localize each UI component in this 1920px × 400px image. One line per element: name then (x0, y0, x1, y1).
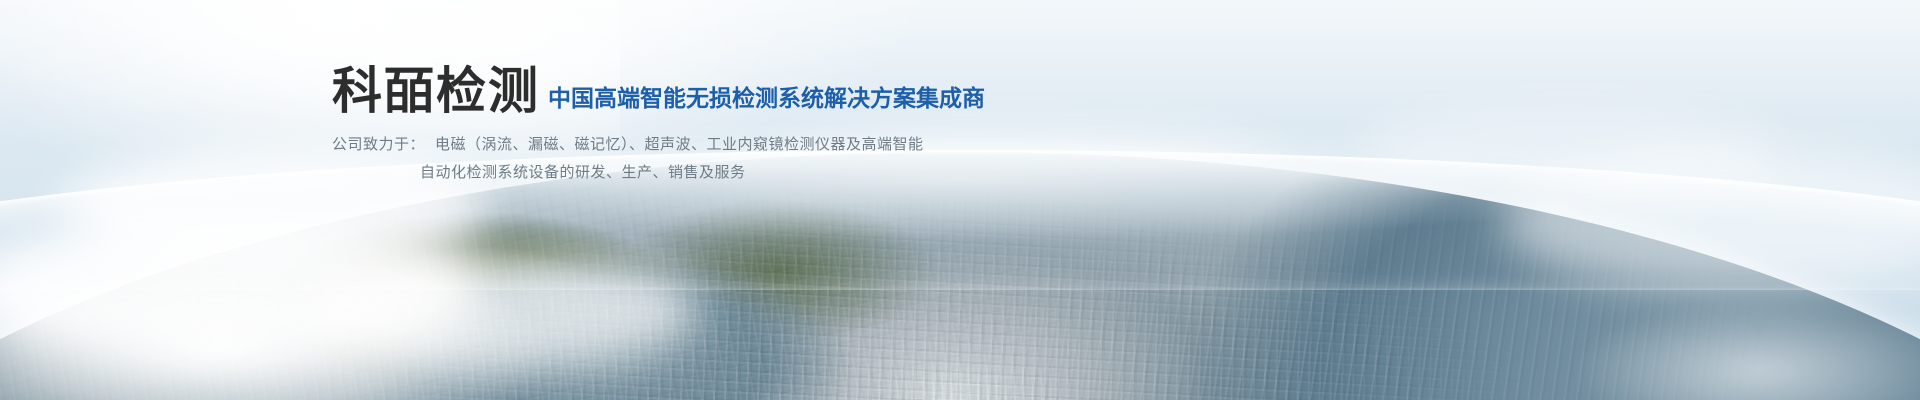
banner-text-overlay: 科皕检测 中国高端智能无损检测系统解决方案集成商 公司致力于： 电磁（涡流、漏磁… (0, 0, 1920, 400)
description-text-line-2: 自动化检测系统设备的研发、生产、销售及服务 (420, 158, 746, 186)
company-name: 科皕检测 (332, 64, 540, 118)
description-label: 公司致力于： (332, 130, 425, 158)
company-description: 公司致力于： 电磁（涡流、漏磁、磁记忆）、超声波、工业内窥镜检测仪器及高端智能 … (332, 130, 924, 186)
brand-title-row: 科皕检测 中国高端智能无损检测系统解决方案集成商 (332, 64, 985, 118)
company-tagline: 中国高端智能无损检测系统解决方案集成商 (548, 85, 985, 118)
description-line-2: 自动化检测系统设备的研发、生产、销售及服务 (332, 158, 924, 186)
description-text-line-1: 电磁（涡流、漏磁、磁记忆）、超声波、工业内窥镜检测仪器及高端智能 (435, 130, 924, 158)
hero-banner: 科皕检测 中国高端智能无损检测系统解决方案集成商 公司致力于： 电磁（涡流、漏磁… (0, 0, 1920, 400)
description-line-1: 公司致力于： 电磁（涡流、漏磁、磁记忆）、超声波、工业内窥镜检测仪器及高端智能 (332, 130, 924, 158)
